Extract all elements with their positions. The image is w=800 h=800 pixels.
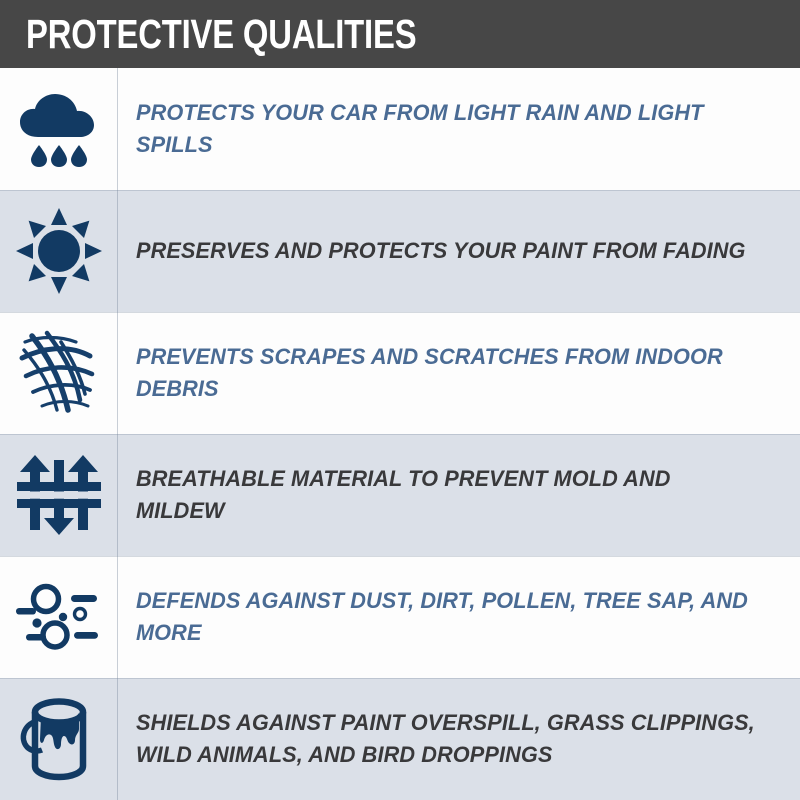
icon-cell [0, 68, 118, 190]
text-cell: SHIELDS AGAINST PAINT OVERSPILL, GRASS C… [118, 678, 800, 800]
breathable-airflow-icon [16, 452, 102, 538]
scratch-mesh-icon [16, 328, 102, 418]
feature-row: DEFENDS AGAINST DUST, DIRT, POLLEN, TREE… [0, 556, 800, 678]
text-cell: PREVENTS SCRAPES AND SCRATCHES FROM INDO… [118, 312, 800, 434]
page-title: PROTECTIVE QUALITIES [26, 14, 416, 55]
header-bar: PROTECTIVE QUALITIES [0, 0, 800, 68]
icon-cell [0, 556, 118, 678]
feature-text: PREVENTS SCRAPES AND SCRATCHES FROM INDO… [136, 341, 757, 405]
sun-icon [16, 208, 102, 294]
icon-cell [0, 434, 118, 556]
icon-cell [0, 312, 118, 434]
icon-cell [0, 678, 118, 800]
paint-bucket-icon [17, 695, 101, 783]
feature-row: PRESERVES AND PROTECTS YOUR PAINT FROM F… [0, 190, 800, 312]
text-cell: BREATHABLE MATERIAL TO PREVENT MOLD AND … [118, 434, 800, 556]
feature-text: PROTECTS YOUR CAR FROM LIGHT RAIN AND LI… [136, 97, 757, 161]
protective-qualities-infographic: PROTECTIVE QUALITIES PROTECTS YOUR CAR F… [0, 0, 800, 800]
feature-row: BREATHABLE MATERIAL TO PREVENT MOLD AND … [0, 434, 800, 556]
feature-row: SHIELDS AGAINST PAINT OVERSPILL, GRASS C… [0, 678, 800, 800]
feature-list: PROTECTS YOUR CAR FROM LIGHT RAIN AND LI… [0, 68, 800, 800]
text-cell: DEFENDS AGAINST DUST, DIRT, POLLEN, TREE… [118, 556, 800, 678]
text-cell: PRESERVES AND PROTECTS YOUR PAINT FROM F… [118, 190, 800, 312]
feature-text: DEFENDS AGAINST DUST, DIRT, POLLEN, TREE… [136, 585, 757, 649]
feature-row: PROTECTS YOUR CAR FROM LIGHT RAIN AND LI… [0, 68, 800, 190]
dust-particles-icon [14, 577, 104, 657]
feature-text: BREATHABLE MATERIAL TO PREVENT MOLD AND … [136, 463, 757, 527]
feature-row: PREVENTS SCRAPES AND SCRATCHES FROM INDO… [0, 312, 800, 434]
feature-text: SHIELDS AGAINST PAINT OVERSPILL, GRASS C… [136, 707, 757, 771]
feature-text: PRESERVES AND PROTECTS YOUR PAINT FROM F… [136, 235, 746, 267]
text-cell: PROTECTS YOUR CAR FROM LIGHT RAIN AND LI… [118, 68, 800, 190]
rain-cloud-icon [16, 89, 102, 169]
icon-cell [0, 190, 118, 312]
